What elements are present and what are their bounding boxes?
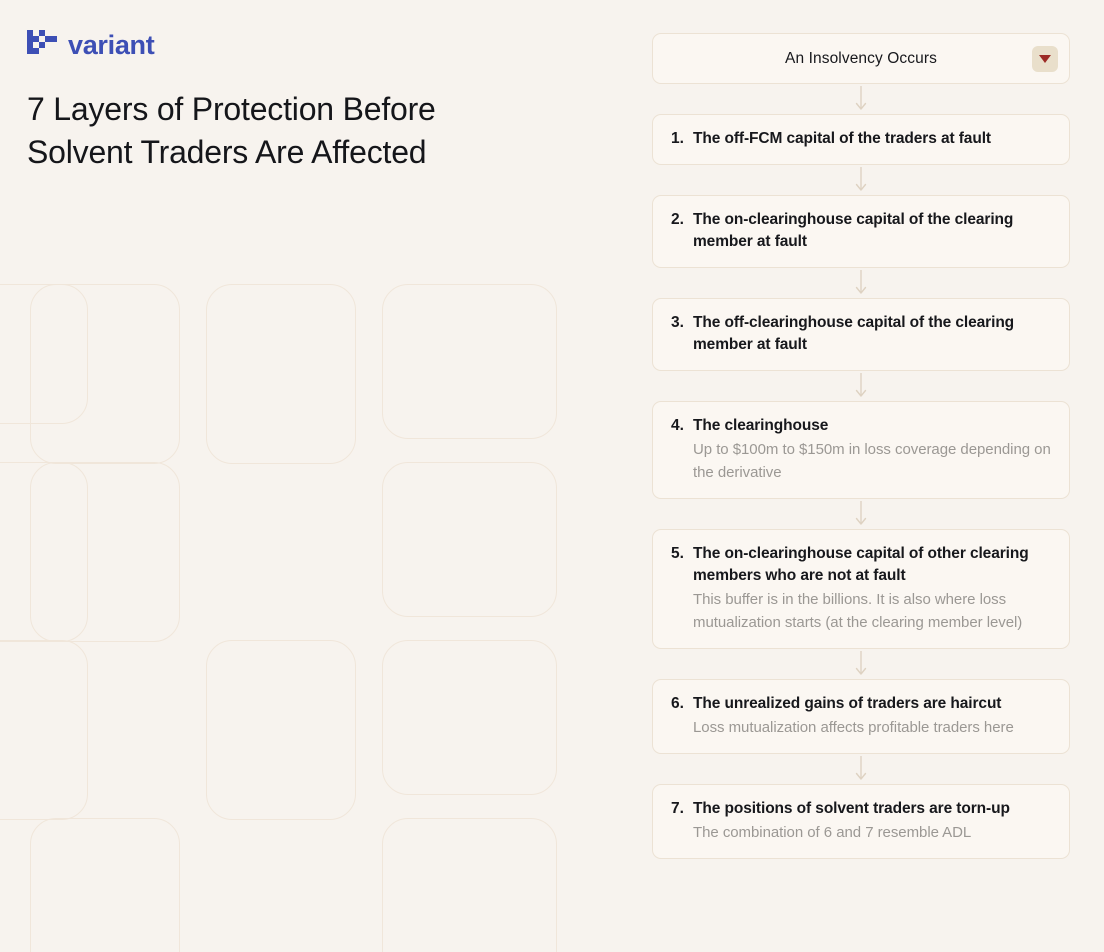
page-title: 7 Layers of Protection Before Solvent Tr… — [27, 88, 487, 174]
flow-step-box[interactable]: 4. The clearinghouse Up to $100m to $150… — [652, 401, 1070, 499]
decoration-tile — [0, 640, 88, 820]
arrow-down-icon — [652, 754, 1070, 784]
step-number: 4. — [671, 415, 693, 437]
step-title: The on-clearinghouse capital of the clea… — [693, 209, 1051, 253]
insolvency-waterfall-flow: An Insolvency Occurs 1. The off-FCM capi… — [652, 33, 1070, 859]
flow-step-box[interactable]: 2. The on-clearinghouse capital of the c… — [652, 195, 1070, 268]
arrow-down-icon — [652, 371, 1070, 401]
decoration-tile — [206, 640, 356, 820]
flow-steps: 1. The off-FCM capital of the traders at… — [652, 84, 1070, 859]
decoration-tile — [382, 640, 557, 795]
decoration-tile — [30, 818, 180, 952]
decoration-tile — [382, 462, 557, 617]
decoration-tile — [30, 284, 180, 464]
brand-logo: variant — [27, 28, 627, 62]
decoration-tile — [0, 462, 88, 642]
step-subtitle: This buffer is in the billions. It is al… — [693, 588, 1051, 634]
flow-step-box[interactable]: 3. The off-clearinghouse capital of the … — [652, 298, 1070, 371]
brand-wordmark: variant — [68, 32, 154, 59]
arrow-down-icon — [652, 84, 1070, 114]
decoration-tile — [206, 284, 356, 464]
arrow-down-icon — [652, 649, 1070, 679]
step-number: 3. — [671, 312, 693, 334]
flow-step-box[interactable]: 6. The unrealized gains of traders are h… — [652, 679, 1070, 754]
step-title: The clearinghouse — [693, 415, 1051, 437]
arrow-down-icon — [652, 165, 1070, 195]
step-number: 6. — [671, 693, 693, 715]
flow-step-box[interactable]: 1. The off-FCM capital of the traders at… — [652, 114, 1070, 165]
step-title: The off-FCM capital of the traders at fa… — [693, 128, 1051, 150]
step-title: The on-clearinghouse capital of other cl… — [693, 543, 1051, 587]
step-title: The unrealized gains of traders are hair… — [693, 693, 1051, 715]
decoration-tile — [30, 462, 180, 642]
decoration-tile — [0, 284, 88, 424]
step-title: The off-clearinghouse capital of the cle… — [693, 312, 1051, 356]
variant-logo-icon — [27, 30, 57, 60]
arrow-down-icon — [652, 268, 1070, 298]
flow-header-box[interactable]: An Insolvency Occurs — [652, 33, 1070, 84]
arrow-down-icon — [652, 499, 1070, 529]
flow-step-box[interactable]: 5. The on-clearinghouse capital of other… — [652, 529, 1070, 649]
chevron-down-glyph — [1039, 55, 1051, 63]
decoration-tile — [382, 818, 557, 952]
step-number: 1. — [671, 128, 693, 150]
flow-step-box[interactable]: 7. The positions of solvent traders are … — [652, 784, 1070, 859]
step-number: 7. — [671, 798, 693, 820]
step-subtitle: Loss mutualization affects profitable tr… — [693, 716, 1051, 739]
background-decoration — [0, 270, 600, 952]
step-subtitle: The combination of 6 and 7 resemble ADL — [693, 821, 1051, 844]
step-number: 2. — [671, 209, 693, 231]
flow-header-label: An Insolvency Occurs — [785, 50, 937, 68]
decoration-tile — [382, 284, 557, 439]
step-number: 5. — [671, 543, 693, 565]
left-column: variant 7 Layers of Protection Before So… — [27, 0, 627, 174]
chevron-down-icon[interactable] — [1032, 46, 1058, 72]
step-title: The positions of solvent traders are tor… — [693, 798, 1051, 820]
step-subtitle: Up to $100m to $150m in loss coverage de… — [693, 438, 1051, 484]
